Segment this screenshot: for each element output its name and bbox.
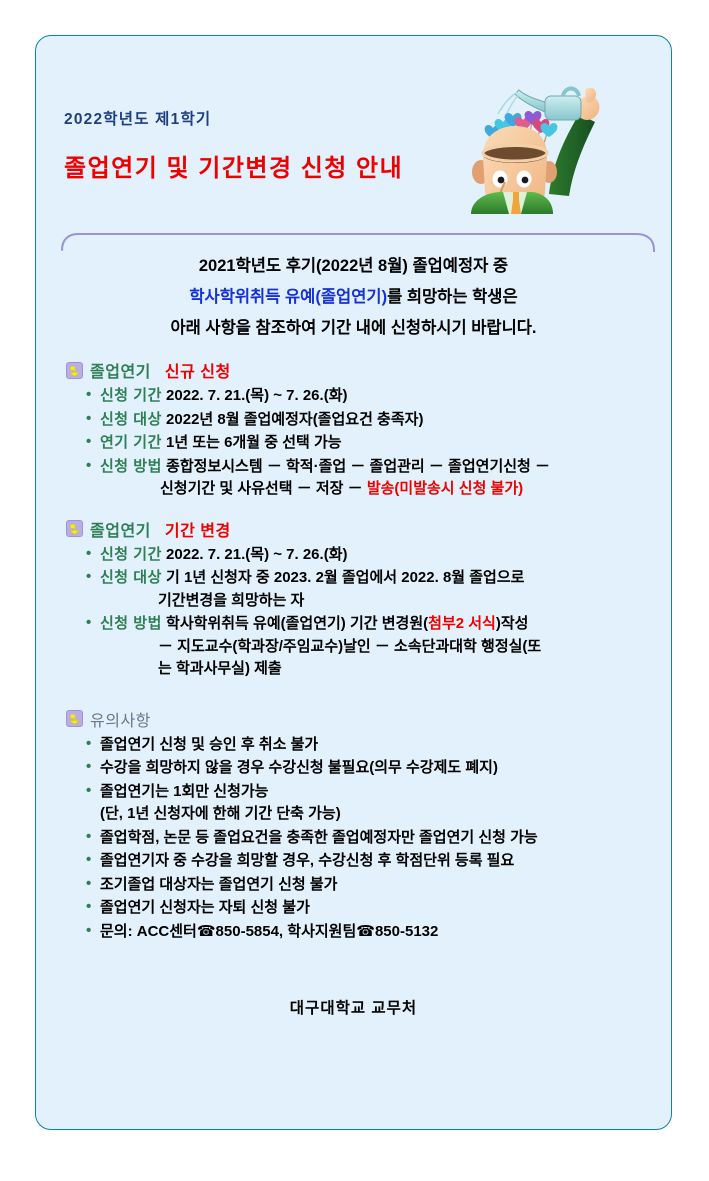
section-items: 신청 기간 2022. 7. 21.(목) ~ 7. 26.(화) 신청 대상 … bbox=[66, 544, 651, 681]
item-label: 신청 방법 bbox=[100, 615, 162, 632]
header-divider bbox=[58, 204, 658, 252]
item-text: 2022년 8월 졸업예정자(졸업요건 충족자) bbox=[166, 411, 423, 428]
note-text: 졸업연기자 중 수강을 희망할 경우, 수강신청 후 학점단위 등록 필요 bbox=[100, 852, 514, 869]
academic-year-semester: 2022학년도 제1학기 bbox=[64, 107, 211, 129]
section-title-main: 졸업연기 bbox=[90, 358, 151, 382]
list-item: 신청 기간 2022. 7. 21.(목) ~ 7. 26.(화) bbox=[85, 544, 651, 567]
list-item: 졸업연기 신청 및 승인 후 취소 불가 bbox=[85, 734, 651, 757]
item-continuation-2: 는 학과사무실) 제출 bbox=[100, 658, 651, 681]
section-title-main: 졸업연기 bbox=[90, 517, 151, 541]
section-period-change: 졸업연기 기간 변경 신청 기간 2022. 7. 21.(목) ~ 7. 26… bbox=[66, 517, 651, 681]
note-text: 졸업학점, 논문 등 졸업요건을 충족한 졸업예정자만 졸업연기 신청 가능 bbox=[100, 829, 538, 846]
poster-header: 2022학년도 제1학기 졸업연기 및 기간변경 신청 안내 bbox=[36, 36, 671, 216]
intro-line-2: 학사학위취득 유예(졸업연기)를 희망하는 학생은 bbox=[36, 282, 671, 313]
item-continuation: － 지도교수(학과장/주임교수)날인 － 소속단과대학 행정실(또 bbox=[100, 636, 651, 659]
item-cont-text: 신청기간 및 사유선택 － 저장 － bbox=[160, 480, 367, 497]
note-text-contact: 문의: ACC센터☎850-5854, 학사지원팀☎850-5132 bbox=[100, 923, 438, 940]
section-title-accent: 기간 변경 bbox=[165, 517, 231, 541]
item-text: 2022. 7. 21.(목) ~ 7. 26.(화) bbox=[166, 387, 347, 404]
item-label: 신청 방법 bbox=[100, 458, 162, 475]
list-item: 졸업연기 신청자는 자퇴 신청 불가 bbox=[85, 897, 651, 920]
intro-line-3: 아래 사항을 참조하여 기간 내에 신청하시기 바랍니다. bbox=[36, 313, 671, 344]
note-text: 수강을 희망하지 않을 경우 수강신청 불필요(의무 수강제도 폐지) bbox=[100, 759, 498, 776]
note-text: 졸업연기 신청 및 승인 후 취소 불가 bbox=[100, 736, 318, 753]
footer-organization: 대구대학교 교무처 bbox=[36, 996, 671, 1018]
section-header: 유의사항 bbox=[66, 707, 651, 731]
arrow-down-right-icon bbox=[66, 710, 83, 727]
item-continuation: 기간변경을 희망하는 자 bbox=[100, 590, 651, 613]
list-item: 신청 기간 2022. 7. 21.(목) ~ 7. 26.(화) bbox=[85, 385, 651, 408]
man-watering-head-plant-illustration bbox=[453, 42, 643, 214]
list-item: 신청 대상 2022년 8월 졸업예정자(졸업요건 충족자) bbox=[85, 409, 651, 432]
poster-body: 졸업연기 신규 신청 신청 기간 2022. 7. 21.(목) ~ 7. 26… bbox=[66, 358, 651, 945]
item-label: 신청 기간 bbox=[100, 546, 162, 563]
note-text: 졸업연기는 1회만 신청가능 bbox=[100, 783, 268, 800]
item-continuation: 신청기간 및 사유선택 － 저장 － 발송(미발송시 신청 불가) bbox=[100, 478, 651, 501]
item-label: 신청 대상 bbox=[100, 569, 162, 586]
water-spray bbox=[498, 92, 519, 116]
page-title: 졸업연기 및 기간변경 신청 안내 bbox=[64, 148, 403, 183]
list-item: 수강을 희망하지 않을 경우 수강신청 불필요(의무 수강제도 폐지) bbox=[85, 757, 651, 780]
list-item: 신청 방법 학사학위취득 유예(졸업연기) 기간 변경원(첨부2 서식)작성 －… bbox=[85, 613, 651, 681]
section-notes: 유의사항 졸업연기 신청 및 승인 후 취소 불가 수강을 희망하지 않을 경우… bbox=[66, 707, 651, 944]
intro-highlight: 학사학위취득 유예(졸업연기) bbox=[189, 288, 387, 306]
section-header: 졸업연기 기간 변경 bbox=[66, 517, 651, 541]
list-item: 신청 대상 기 1년 신청자 중 2023. 2월 졸업에서 2022. 8월 … bbox=[85, 567, 651, 612]
list-item: 졸업연기자 중 수강을 희망할 경우, 수강신청 후 학점단위 등록 필요 bbox=[85, 850, 651, 873]
announcement-poster: 2022학년도 제1학기 졸업연기 및 기간변경 신청 안내 bbox=[35, 35, 672, 1130]
list-item: 조기졸업 대상자는 졸업연기 신청 불가 bbox=[85, 874, 651, 897]
item-label: 신청 기간 bbox=[100, 387, 162, 404]
item-text: 1년 또는 6개월 중 선택 가능 bbox=[166, 434, 342, 451]
section-items: 신청 기간 2022. 7. 21.(목) ~ 7. 26.(화) 신청 대상 … bbox=[66, 385, 651, 501]
list-item: 신청 방법 종합정보시스템 － 학적·졸업 － 졸업관리 － 졸업연기신청 － … bbox=[85, 456, 651, 501]
list-item: 졸업학점, 논문 등 졸업요건을 충족한 졸업예정자만 졸업연기 신청 가능 bbox=[85, 827, 651, 850]
arrow-down-right-icon bbox=[66, 362, 83, 379]
section-new-application: 졸업연기 신규 신청 신청 기간 2022. 7. 21.(목) ~ 7. 26… bbox=[66, 358, 651, 501]
notes-items: 졸업연기 신청 및 승인 후 취소 불가 수강을 희망하지 않을 경우 수강신청… bbox=[66, 734, 651, 944]
item-text-highlight: 첨부2 서식 bbox=[428, 615, 496, 632]
item-text: 기 1년 신청자 중 2023. 2월 졸업에서 2022. 8월 졸업으로 bbox=[166, 569, 524, 586]
note-text: 조기졸업 대상자는 졸업연기 신청 불가 bbox=[100, 876, 337, 893]
item-text: 2022. 7. 21.(목) ~ 7. 26.(화) bbox=[166, 546, 347, 563]
list-item: 졸업연기는 1회만 신청가능 (단, 1년 신청자에 한해 기간 단축 가능) bbox=[85, 781, 651, 826]
section-title-accent: 신규 신청 bbox=[165, 358, 231, 382]
section-header: 졸업연기 신규 신청 bbox=[66, 358, 651, 382]
intro-line-2-rest: 를 희망하는 학생은 bbox=[387, 288, 518, 306]
item-cont-highlight: 발송(미발송시 신청 불가) bbox=[367, 480, 523, 497]
item-text: 종합정보시스템 － 학적·졸업 － 졸업관리 － 졸업연기신청 － bbox=[166, 458, 550, 475]
item-text-post: )작성 bbox=[496, 615, 529, 632]
item-text-pre: 학사학위취득 유예(졸업연기) 기간 변경원( bbox=[166, 615, 428, 632]
list-item: 연기 기간 1년 또는 6개월 중 선택 가능 bbox=[85, 432, 651, 455]
section-title-notes: 유의사항 bbox=[90, 707, 151, 731]
list-item: 문의: ACC센터☎850-5854, 학사지원팀☎850-5132 bbox=[85, 921, 651, 944]
intro-paragraph: 2021학년도 후기(2022년 8월) 졸업예정자 중 학사학위취득 유예(졸… bbox=[36, 251, 671, 344]
intro-line-1: 2021학년도 후기(2022년 8월) 졸업예정자 중 bbox=[36, 251, 671, 282]
item-label: 연기 기간 bbox=[100, 434, 162, 451]
arrow-down-right-icon bbox=[66, 520, 83, 537]
note-continuation: (단, 1년 신청자에 한해 기간 단축 가능) bbox=[100, 803, 651, 826]
note-text: 졸업연기 신청자는 자퇴 신청 불가 bbox=[100, 899, 310, 916]
item-label: 신청 대상 bbox=[100, 411, 162, 428]
